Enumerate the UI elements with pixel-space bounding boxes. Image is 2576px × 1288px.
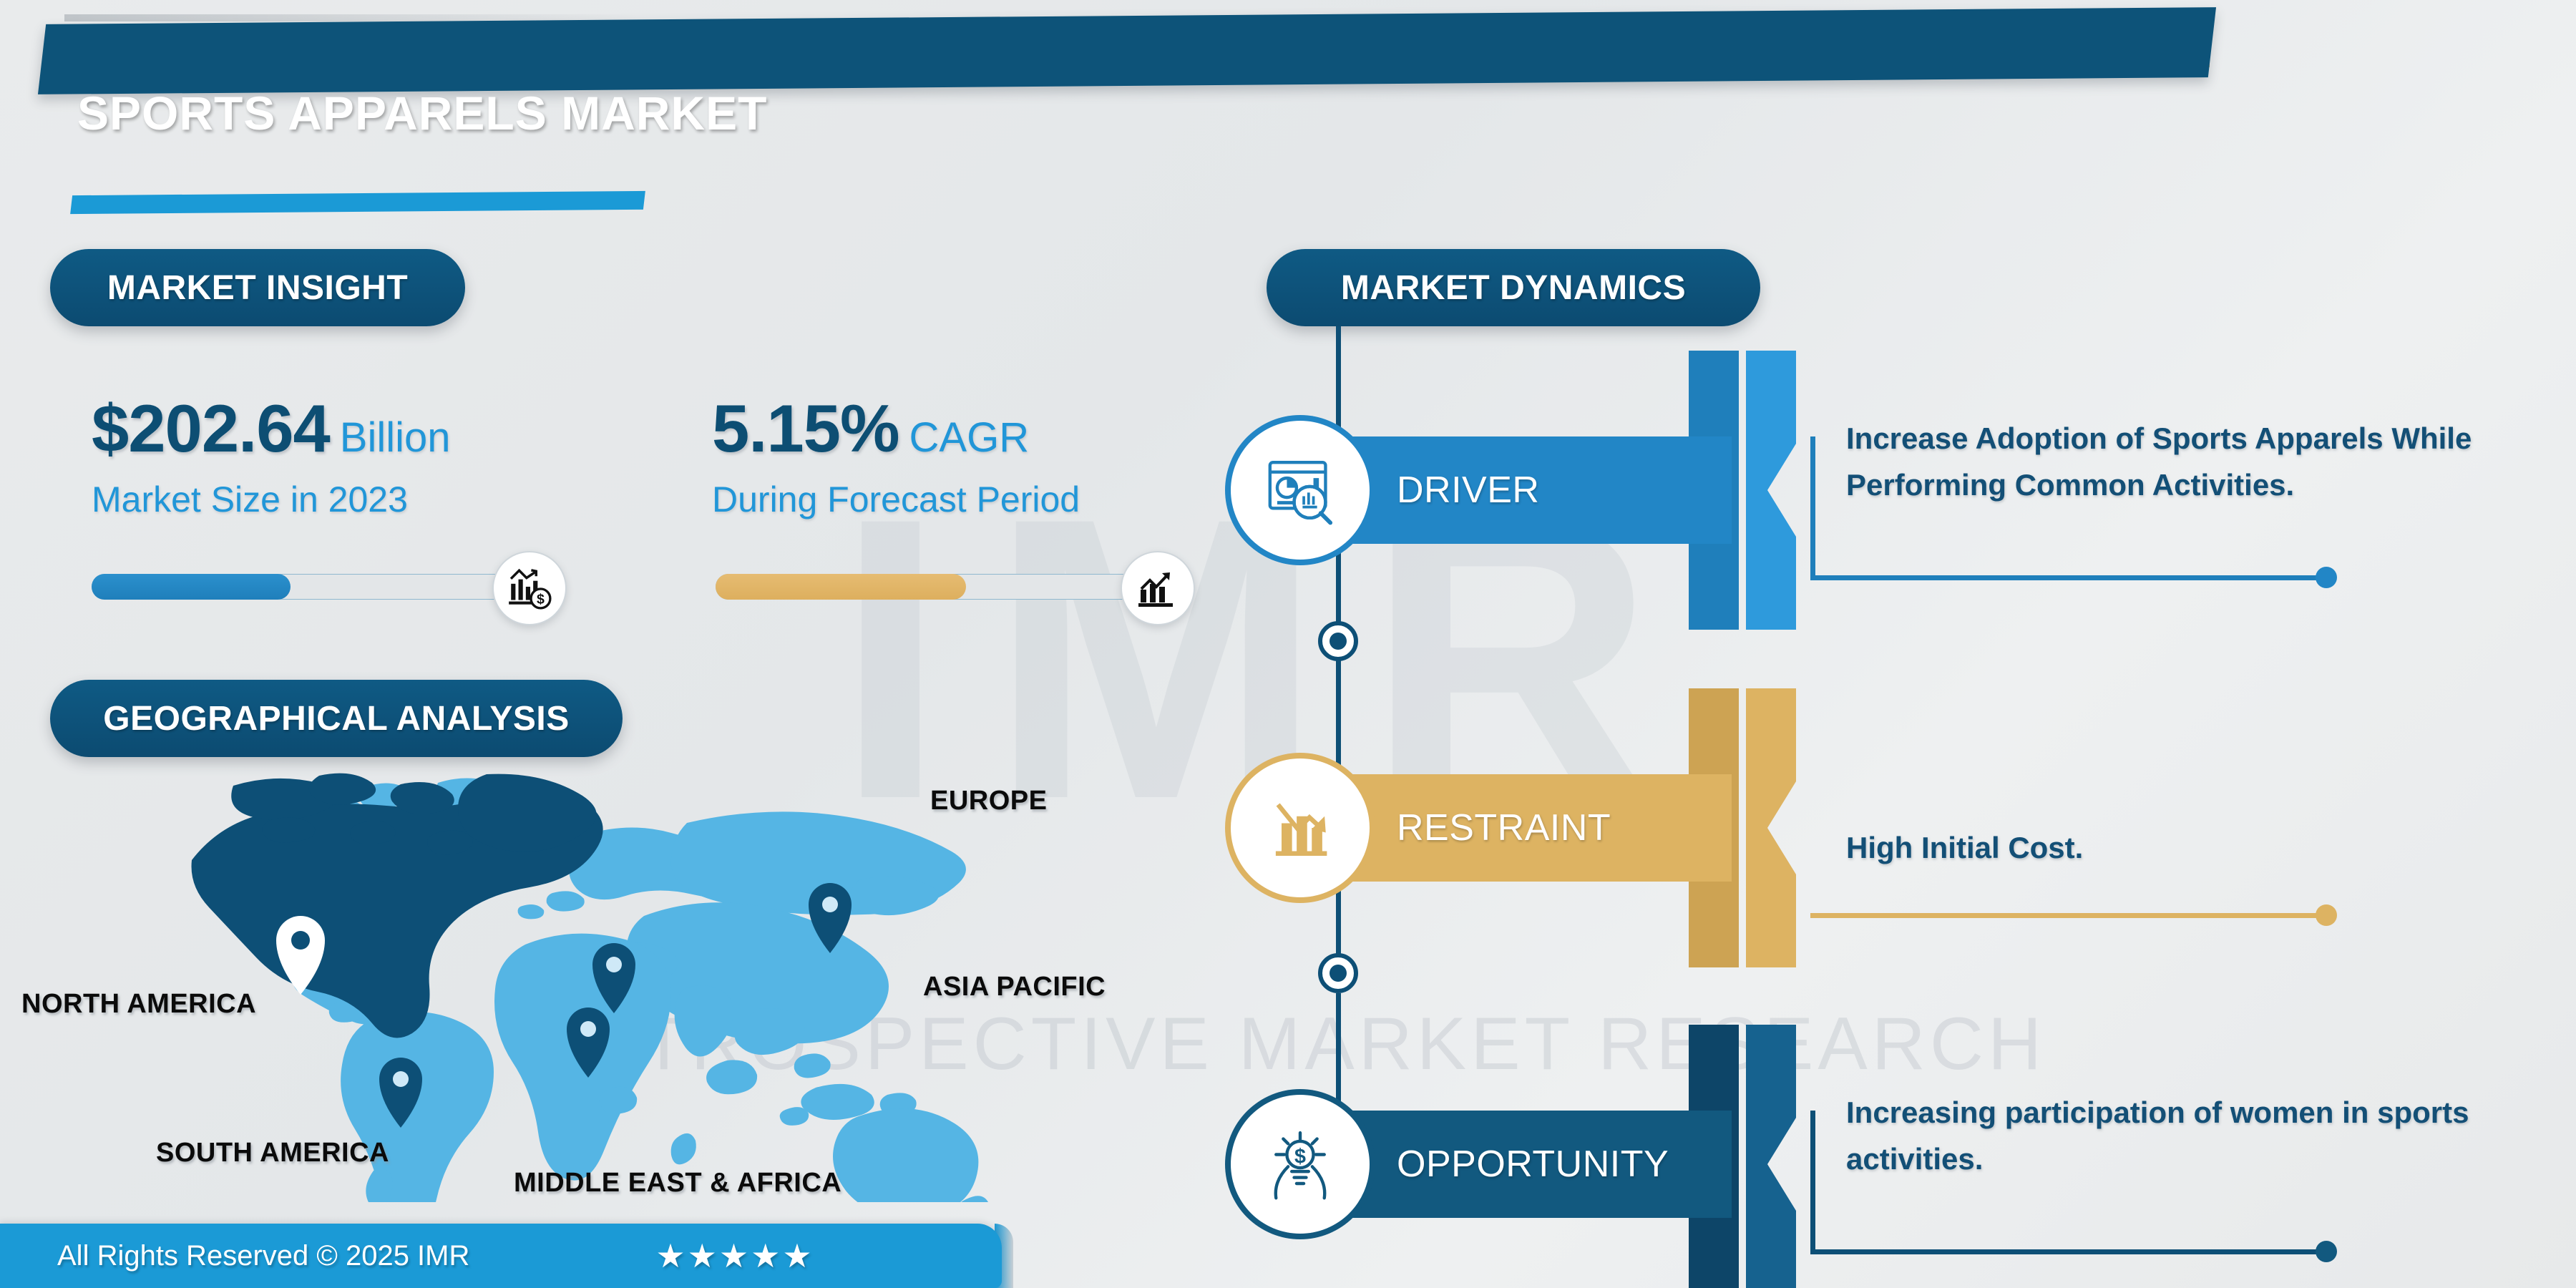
driver-endpoint-dot (2316, 567, 2337, 588)
restraint-band: RESTRAINT (1274, 774, 1732, 882)
kpi-market-size: $202.64Billion Market Size in 2023 (92, 390, 451, 520)
section-label-market-insight: MARKET INSIGHT (50, 249, 465, 326)
kpi-cagr: 5.15%CAGR During Forecast Period (712, 390, 1080, 520)
restraint-underline (1810, 913, 2326, 918)
market-size-progress: $ (92, 565, 514, 608)
lightbulb-dollar-icon: $ (1231, 1095, 1370, 1234)
cagr-subtitle: During Forecast Period (712, 479, 1080, 520)
opportunity-band: $ OPPORTUNITY (1274, 1111, 1732, 1218)
opportunity-underline (1810, 1249, 2326, 1254)
page-title: SPORTS APPARELS MARKET (77, 86, 767, 140)
market-size-unit: Billion (340, 414, 451, 461)
market-size-subtitle: Market Size in 2023 (92, 479, 451, 520)
progress-fill (716, 574, 966, 600)
footer-bar: All Rights Reserved © 2025 IMR ★★★★★ (0, 1224, 1002, 1288)
copyright-text: All Rights Reserved © 2025 IMR (57, 1240, 469, 1272)
section-label-geographical-analysis: GEOGRAPHICAL ANALYSIS (50, 680, 623, 757)
section-label-market-dynamics: MARKET DYNAMICS (1267, 249, 1760, 326)
cagr-value: 5.15% (712, 391, 899, 466)
restraint-label: RESTRAINT (1397, 806, 1611, 849)
rating-stars-icon: ★★★★★ (655, 1236, 814, 1275)
opportunity-description: Increasing participation of women in spo… (1846, 1089, 2562, 1182)
svg-text:$: $ (537, 592, 545, 608)
map-label-north-america: NORTH AMERICA (21, 989, 256, 1020)
growth-chart-arrow-icon (1121, 551, 1195, 625)
map-label-asia-pacific: ASIA PACIFIC (923, 972, 1106, 1002)
driver-connector-vertical (1810, 436, 1815, 580)
market-size-value: $202.64 (92, 391, 330, 466)
driver-band: DRIVER (1274, 436, 1732, 544)
cagr-unit: CAGR (909, 414, 1030, 461)
bar-chart-dollar-icon: $ (492, 551, 567, 625)
header-blue-accent-bar (70, 191, 645, 214)
opportunity-connector-vertical (1810, 1111, 1815, 1254)
dynamics-item-driver[interactable]: DRIVER Increase Adoption of Sports Appar… (1274, 351, 2562, 637)
progress-fill (92, 574, 291, 600)
dashboard-analysis-icon (1231, 421, 1370, 560)
driver-description: Increase Adoption of Sports Apparels Whi… (1846, 415, 2562, 508)
restraint-description: High Initial Cost. (1846, 824, 2562, 871)
restraint-endpoint-dot (2316, 904, 2337, 926)
driver-label: DRIVER (1397, 469, 1539, 512)
dynamics-item-restraint[interactable]: RESTRAINT High Initial Cost. (1274, 688, 2562, 975)
driver-underline (1810, 575, 2326, 580)
map-label-europe: EUROPE (930, 786, 1047, 816)
cagr-progress (716, 565, 1145, 608)
map-label-south-america: SOUTH AMERICA (156, 1138, 389, 1169)
declining-bar-chart-icon (1231, 758, 1370, 897)
map-label-middle-east-africa: MIDDLE EAST & AFRICA (514, 1168, 841, 1199)
opportunity-label: OPPORTUNITY (1397, 1143, 1669, 1186)
opportunity-endpoint-dot (2316, 1241, 2337, 1262)
dynamics-item-opportunity[interactable]: $ OPPORTUNITY Increasing participation o… (1274, 1025, 2562, 1288)
infographic-root: IMR INTROSPECTIVE MARKET RESEARCH SPORTS… (0, 0, 2576, 1288)
svg-text:$: $ (1294, 1145, 1306, 1168)
